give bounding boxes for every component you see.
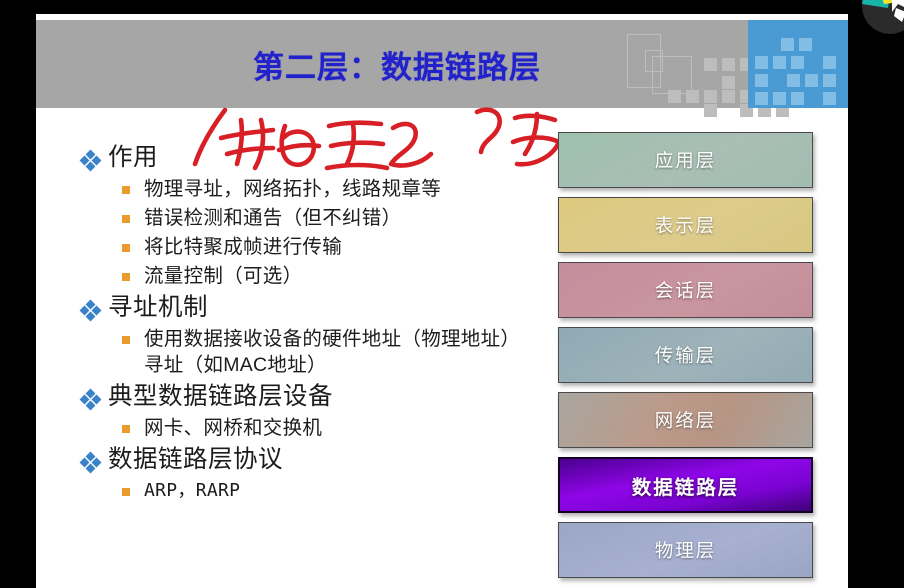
decorative-square — [823, 74, 836, 87]
diamond-cluster-bullet-icon — [80, 142, 102, 173]
decorative-square — [791, 56, 804, 69]
square-bullet-icon — [122, 215, 130, 223]
decorative-square — [791, 92, 804, 105]
osi-layer-data-link[interactable]: 数据链路层 — [558, 457, 813, 513]
square-bullet-icon — [122, 336, 130, 344]
bullet-level1-label: 作用 — [108, 142, 158, 173]
diamond-cluster-bullet-icon — [80, 292, 102, 323]
bullet-level2: 错误检测和通告（但不纠错） — [122, 205, 560, 231]
bullet-level2-label: ARP，RARP — [144, 478, 240, 504]
slide-header-banner: 第二层：数据链路层 — [36, 20, 848, 108]
bullet-level2-label: 错误检测和通告（但不纠错） — [144, 205, 401, 231]
channel-avatar-logo[interactable] — [862, 0, 904, 34]
osi-layer-transport[interactable]: 传输层 — [558, 327, 813, 383]
osi-layer-label: 物理层 — [655, 537, 717, 563]
decorative-square — [823, 92, 836, 105]
decorative-square — [773, 92, 786, 105]
osi-layer-physical[interactable]: 物理层 — [558, 522, 813, 578]
bullet-level1: 数据链路层协议 — [80, 444, 560, 475]
decorative-square — [787, 74, 800, 87]
osi-layer-label: 数据链路层 — [632, 471, 740, 500]
osi-layer-presentation[interactable]: 表示层 — [558, 197, 813, 253]
bullet-level2: 将比特聚成帧进行传输 — [122, 234, 560, 260]
bullet-level2: 流量控制（可选） — [122, 263, 560, 289]
slide-title: 第二层：数据链路层 — [36, 20, 748, 108]
banner-accent-panel — [748, 20, 848, 108]
bullet-level2-label: 网卡、网桥和交换机 — [144, 415, 322, 441]
square-bullet-icon — [122, 244, 130, 252]
bullet-level1: 作用 — [80, 142, 560, 173]
video-frame: 第二层：数据链路层 — [0, 0, 904, 588]
bullet-level2-label: 将比特聚成帧进行传输 — [144, 234, 342, 260]
decorative-square — [781, 38, 794, 51]
square-bullet-icon — [122, 425, 130, 433]
bullet-level1: 寻址机制 — [80, 292, 560, 323]
osi-layer-label: 会话层 — [655, 277, 717, 303]
osi-layer-stack: 应用层 表示层 会话层 传输层 网络层 数据链路层 物理层 — [558, 132, 816, 587]
osi-layer-label: 传输层 — [655, 342, 717, 368]
decorative-square — [805, 74, 818, 87]
bullet-level2-label: 流量控制（可选） — [144, 263, 302, 289]
bullet-level2: 使用数据接收设备的硬件地址（物理地址）寻址（如MAC地址） — [122, 326, 560, 378]
bullet-level2: 物理寻址，网络拓扑，线路规章等 — [122, 176, 560, 202]
decorative-square — [799, 38, 812, 51]
osi-layer-application[interactable]: 应用层 — [558, 132, 813, 188]
bullet-level1: 典型数据链路层设备 — [80, 381, 560, 412]
osi-layer-network[interactable]: 网络层 — [558, 392, 813, 448]
osi-layer-label: 应用层 — [655, 147, 717, 173]
bullet-level1-label: 寻址机制 — [108, 292, 208, 323]
bullet-level2-label: 物理寻址，网络拓扑，线路规章等 — [144, 176, 441, 202]
osi-layer-label: 表示层 — [655, 212, 717, 238]
bullet-level2-label: 使用数据接收设备的硬件地址（物理地址）寻址（如MAC地址） — [144, 326, 536, 378]
square-bullet-icon — [122, 488, 130, 496]
bullet-level2: 网卡、网桥和交换机 — [122, 415, 560, 441]
bullet-level1-label: 典型数据链路层设备 — [108, 381, 333, 412]
diamond-cluster-bullet-icon — [80, 381, 102, 412]
decorative-square — [823, 56, 836, 69]
square-bullet-icon — [122, 186, 130, 194]
bullet-level2: ARP，RARP — [122, 478, 560, 504]
decorative-square — [755, 92, 768, 105]
decorative-square — [755, 56, 768, 69]
osi-layer-label: 网络层 — [655, 407, 717, 433]
presentation-slide: 第二层：数据链路层 — [36, 14, 848, 588]
decorative-square — [773, 56, 786, 69]
decorative-square — [755, 74, 768, 87]
slide-body-bullets: 作用 物理寻址，网络拓扑，线路规章等 错误检测和通告（但不纠错） 将比特聚成帧进… — [80, 140, 560, 507]
osi-layer-session[interactable]: 会话层 — [558, 262, 813, 318]
bullet-level1-label: 数据链路层协议 — [108, 444, 283, 475]
diamond-cluster-bullet-icon — [80, 444, 102, 475]
square-bullet-icon — [122, 273, 130, 281]
